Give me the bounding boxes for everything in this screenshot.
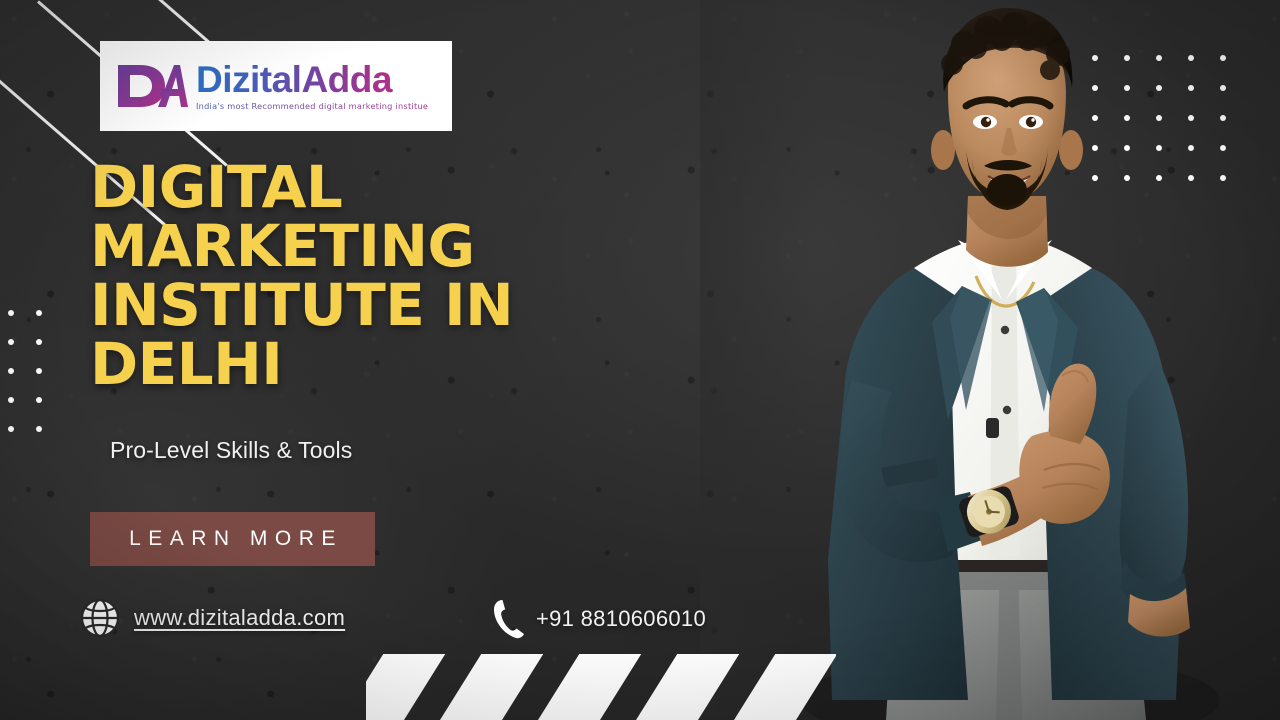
website-url[interactable]: www.dizitaladda.com	[134, 605, 345, 631]
headline-line-1: DIGITAL	[90, 158, 520, 217]
promo-banner: DizitalAdda India's most Recommended dig…	[0, 0, 1280, 720]
dot	[8, 397, 14, 403]
phone-icon	[490, 598, 528, 640]
presenter-photo	[700, 0, 1280, 720]
page-title: DIGITAL MARKETING INSTITUTE IN DELHI	[90, 158, 520, 395]
headline-line-3: INSTITUTE IN	[90, 276, 520, 335]
dot	[8, 426, 14, 432]
dot	[8, 310, 14, 316]
dot	[36, 426, 42, 432]
phone-contact[interactable]: +91 8810606010	[490, 598, 706, 640]
dot	[8, 368, 14, 374]
dot-grid-left-decoration	[8, 310, 42, 430]
dot	[8, 339, 14, 345]
dot	[36, 368, 42, 374]
brand-logo-card[interactable]: DizitalAdda India's most Recommended dig…	[100, 41, 452, 131]
da-monogram-icon	[114, 59, 188, 113]
brand-tagline: India's most Recommended digital marketi…	[196, 101, 428, 111]
website-contact[interactable]: www.dizitaladda.com	[80, 598, 345, 638]
phone-number[interactable]: +91 8810606010	[536, 606, 706, 632]
dot	[36, 397, 42, 403]
dot	[36, 339, 42, 345]
subtitle: Pro-Level Skills & Tools	[110, 437, 352, 464]
headline-line-4: DELHI	[90, 335, 520, 394]
dot	[36, 310, 42, 316]
globe-icon	[80, 598, 120, 638]
brand-wordmark: DizitalAdda	[196, 61, 428, 98]
headline-line-2: MARKETING	[90, 217, 520, 276]
learn-more-button[interactable]: LEARN MORE	[90, 512, 375, 566]
